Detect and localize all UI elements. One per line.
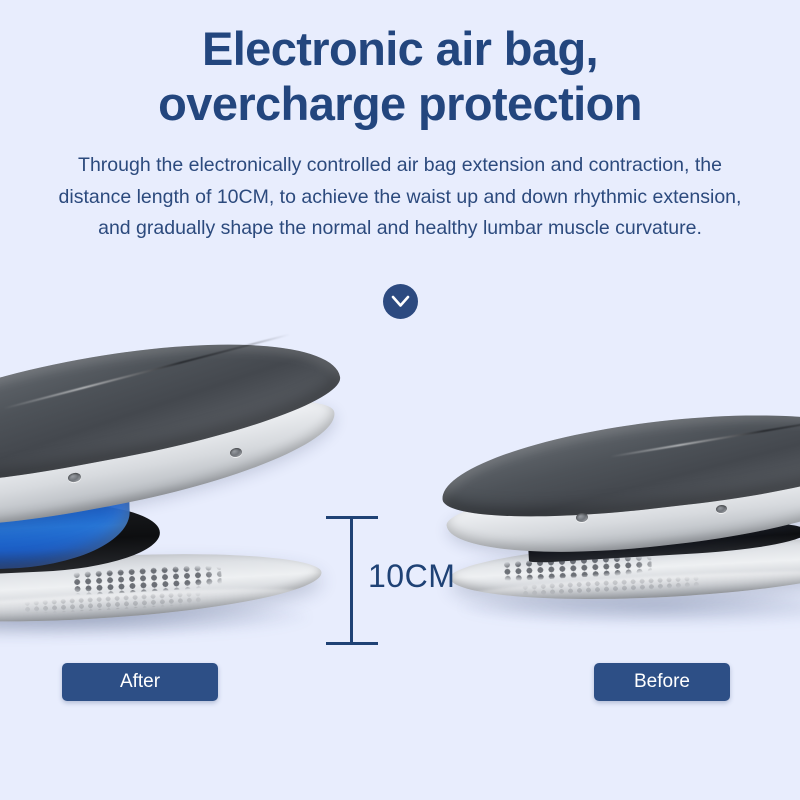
caption-button-after[interactable]: After [62, 663, 218, 701]
scroll-down-badge[interactable] [383, 284, 418, 319]
caption-button-before[interactable]: Before [594, 663, 730, 701]
description-text: Through the electronically controlled ai… [50, 150, 750, 245]
dimension-vertical-line [350, 516, 353, 645]
chevron-down-icon [391, 295, 410, 308]
product-device-before [440, 413, 800, 633]
shell-crease-line [610, 415, 800, 459]
page-title: Electronic air bag, overcharge protectio… [0, 22, 800, 132]
shell-crease-line [4, 333, 291, 409]
dimension-cap-bottom [326, 642, 378, 645]
product-feature-banner: Electronic air bag, overcharge protectio… [0, 0, 800, 800]
measurement-value: 10CM [368, 558, 455, 595]
measurement-marker: 10CM [326, 516, 456, 648]
